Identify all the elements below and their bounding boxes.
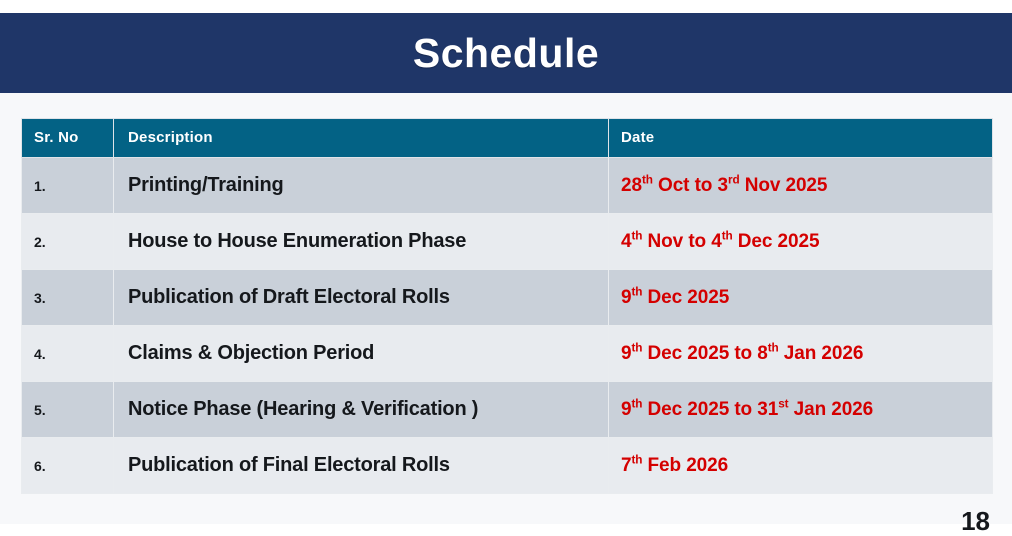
table-header-row: Sr. No Description Date [22,119,993,158]
column-header-description: Description [114,119,609,158]
cell-sr-no: 5. [22,382,114,438]
cell-date: 9th Dec 2025 [609,270,993,326]
cell-sr-no: 1. [22,158,114,214]
table-row: 3.Publication of Draft Electoral Rolls9t… [22,270,993,326]
table-header: Sr. No Description Date [22,119,993,158]
cell-date: 9th Dec 2025 to 8th Jan 2026 [609,326,993,382]
cell-description: House to House Enumeration Phase [114,214,609,270]
cell-description: Publication of Draft Electoral Rolls [114,270,609,326]
cell-description: Publication of Final Electoral Rolls [114,438,609,494]
cell-description: Claims & Objection Period [114,326,609,382]
column-header-date: Date [609,119,993,158]
page-title: Schedule [413,33,599,74]
table-body: 1.Printing/Training28th Oct to 3rd Nov 2… [22,158,993,494]
cell-description: Notice Phase (Hearing & Verification ) [114,382,609,438]
slide: Schedule Sr. No Description Date 1.Print… [0,0,1012,524]
cell-date: 28th Oct to 3rd Nov 2025 [609,158,993,214]
table-row: 4.Claims & Objection Period9th Dec 2025 … [22,326,993,382]
cell-date: 4th Nov to 4th Dec 2025 [609,214,993,270]
table-row: 6.Publication of Final Electoral Rolls7t… [22,438,993,494]
slide-body: Sr. No Description Date 1.Printing/Train… [0,93,1012,524]
cell-sr-no: 4. [22,326,114,382]
title-banner: Schedule [0,13,1012,93]
cell-date: 7th Feb 2026 [609,438,993,494]
page-number: 18 [961,508,990,534]
cell-sr-no: 3. [22,270,114,326]
table-row: 1.Printing/Training28th Oct to 3rd Nov 2… [22,158,993,214]
column-header-sr-no: Sr. No [22,119,114,158]
cell-sr-no: 2. [22,214,114,270]
schedule-table: Sr. No Description Date 1.Printing/Train… [21,118,993,494]
cell-description: Printing/Training [114,158,609,214]
table-row: 5.Notice Phase (Hearing & Verification )… [22,382,993,438]
table-row: 2.House to House Enumeration Phase4th No… [22,214,993,270]
cell-date: 9th Dec 2025 to 31st Jan 2026 [609,382,993,438]
cell-sr-no: 6. [22,438,114,494]
